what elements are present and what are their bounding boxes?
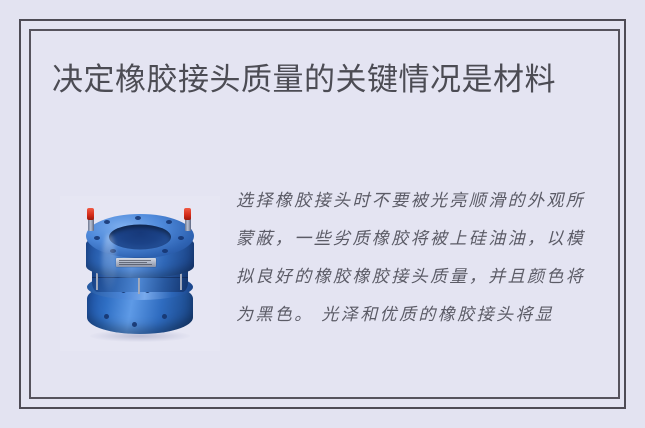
product-image [60,196,220,351]
bolt-hole-icon [94,236,100,240]
red-bolt-cap-right-icon [184,208,191,220]
flange-bolt-icon [162,314,167,319]
article-body-text: 选择橡胶接头时不要被光亮顺滑的外观所蒙蔽，一些劣质橡胶将被上硅油油，以模拟良好的… [236,182,588,334]
red-bolt-cap-left-icon [87,208,94,220]
poster-canvas: 决定橡胶接头质量的关键情况是材料 [0,0,645,428]
bolt-hole-icon [110,249,116,253]
rubber-expansion-joint-illustration [82,204,198,344]
flange-bolt-icon [104,314,109,319]
page-title: 决定橡胶接头质量的关键情况是材料 [52,58,582,102]
bolt-hole-icon [104,220,110,224]
flange-bolt-icon [132,322,137,327]
pipe-bore-opening [109,224,171,249]
bolt-hole-icon [178,236,184,240]
bolt-hole-icon [166,220,172,224]
product-nameplate [116,258,156,267]
bolt-hole-icon [162,249,168,253]
bolt-hole-icon [135,216,141,220]
upper-flange-top-face [86,214,194,258]
